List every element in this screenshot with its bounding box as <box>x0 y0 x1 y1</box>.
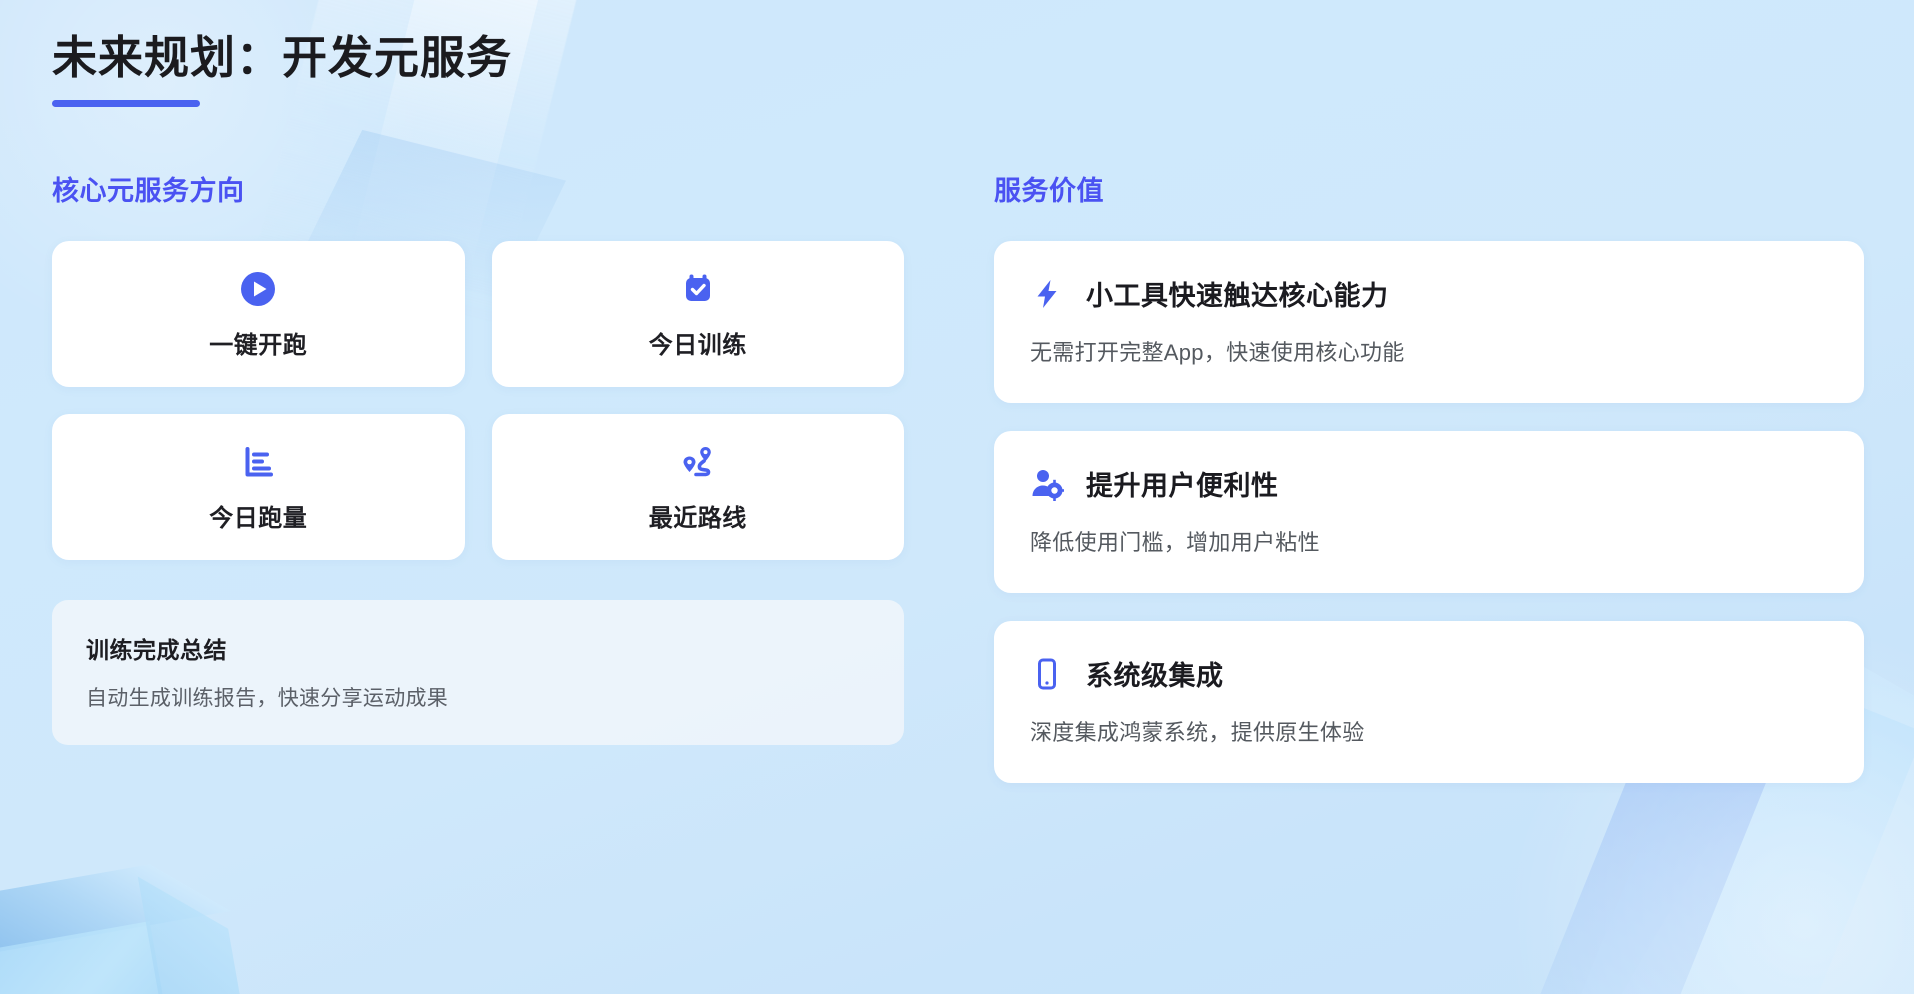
route-icon <box>678 442 718 482</box>
value-card-header: 系统级集成 <box>1030 654 1828 693</box>
play-circle-icon <box>238 269 278 309</box>
value-card-title: 小工具快速触达核心能力 <box>1086 274 1389 313</box>
value-card-header: 小工具快速触达核心能力 <box>1030 274 1828 313</box>
user-gear-icon <box>1030 467 1064 501</box>
service-value-column: 服务价值 小工具快速触达核心能力 无需打开完整App，快速使用核心功能 <box>994 169 1864 783</box>
two-column-layout: 核心元服务方向 一键开跑 <box>52 169 1862 783</box>
value-card-quick-access[interactable]: 小工具快速触达核心能力 无需打开完整App，快速使用核心功能 <box>994 241 1864 403</box>
core-services-heading: 核心元服务方向 <box>52 169 904 208</box>
feature-card-grid: 一键开跑 今日训练 <box>52 241 904 560</box>
feature-card-recent-route[interactable]: 最近路线 <box>492 414 905 560</box>
value-card-title: 提升用户便利性 <box>1086 464 1279 503</box>
value-card-desc: 降低使用门槛，增加用户粘性 <box>1030 525 1828 557</box>
value-card-header: 提升用户便利性 <box>1030 464 1828 503</box>
value-card-desc: 深度集成鸿蒙系统，提供原生体验 <box>1030 715 1828 747</box>
value-card-desc: 无需打开完整App，快速使用核心功能 <box>1030 335 1828 367</box>
feature-card-label: 今日训练 <box>649 325 747 360</box>
training-summary-card: 训练完成总结 自动生成训练报告，快速分享运动成果 <box>52 600 904 745</box>
feature-card-label: 一键开跑 <box>209 325 307 360</box>
feature-card-one-tap-run[interactable]: 一键开跑 <box>52 241 465 387</box>
background-cube-shape <box>0 854 266 994</box>
core-services-column: 核心元服务方向 一键开跑 <box>52 169 904 783</box>
feature-card-today-training[interactable]: 今日训练 <box>492 241 905 387</box>
training-summary-desc: 自动生成训练报告，快速分享运动成果 <box>86 682 870 712</box>
feature-card-today-mileage[interactable]: 今日跑量 <box>52 414 465 560</box>
feature-card-label: 最近路线 <box>649 498 747 533</box>
mobile-phone-icon <box>1030 657 1064 691</box>
value-card-title: 系统级集成 <box>1086 654 1224 693</box>
value-card-list: 小工具快速触达核心能力 无需打开完整App，快速使用核心功能 <box>994 241 1864 783</box>
lightning-bolt-icon <box>1030 277 1064 311</box>
calendar-check-icon <box>678 269 718 309</box>
slide-content: 未来规划：开发元服务 核心元服务方向 一键开跑 <box>0 0 1914 783</box>
title-underline <box>52 100 200 107</box>
training-summary-title: 训练完成总结 <box>86 631 870 665</box>
value-card-system-integration[interactable]: 系统级集成 深度集成鸿蒙系统，提供原生体验 <box>994 621 1864 783</box>
slide-canvas: 未来规划：开发元服务 核心元服务方向 一键开跑 <box>0 0 1914 994</box>
service-value-heading: 服务价值 <box>994 169 1864 208</box>
page-title: 未来规划：开发元服务 <box>52 30 1862 86</box>
bar-chart-icon <box>238 442 278 482</box>
value-card-user-convenience[interactable]: 提升用户便利性 降低使用门槛，增加用户粘性 <box>994 431 1864 593</box>
feature-card-label: 今日跑量 <box>209 498 307 533</box>
